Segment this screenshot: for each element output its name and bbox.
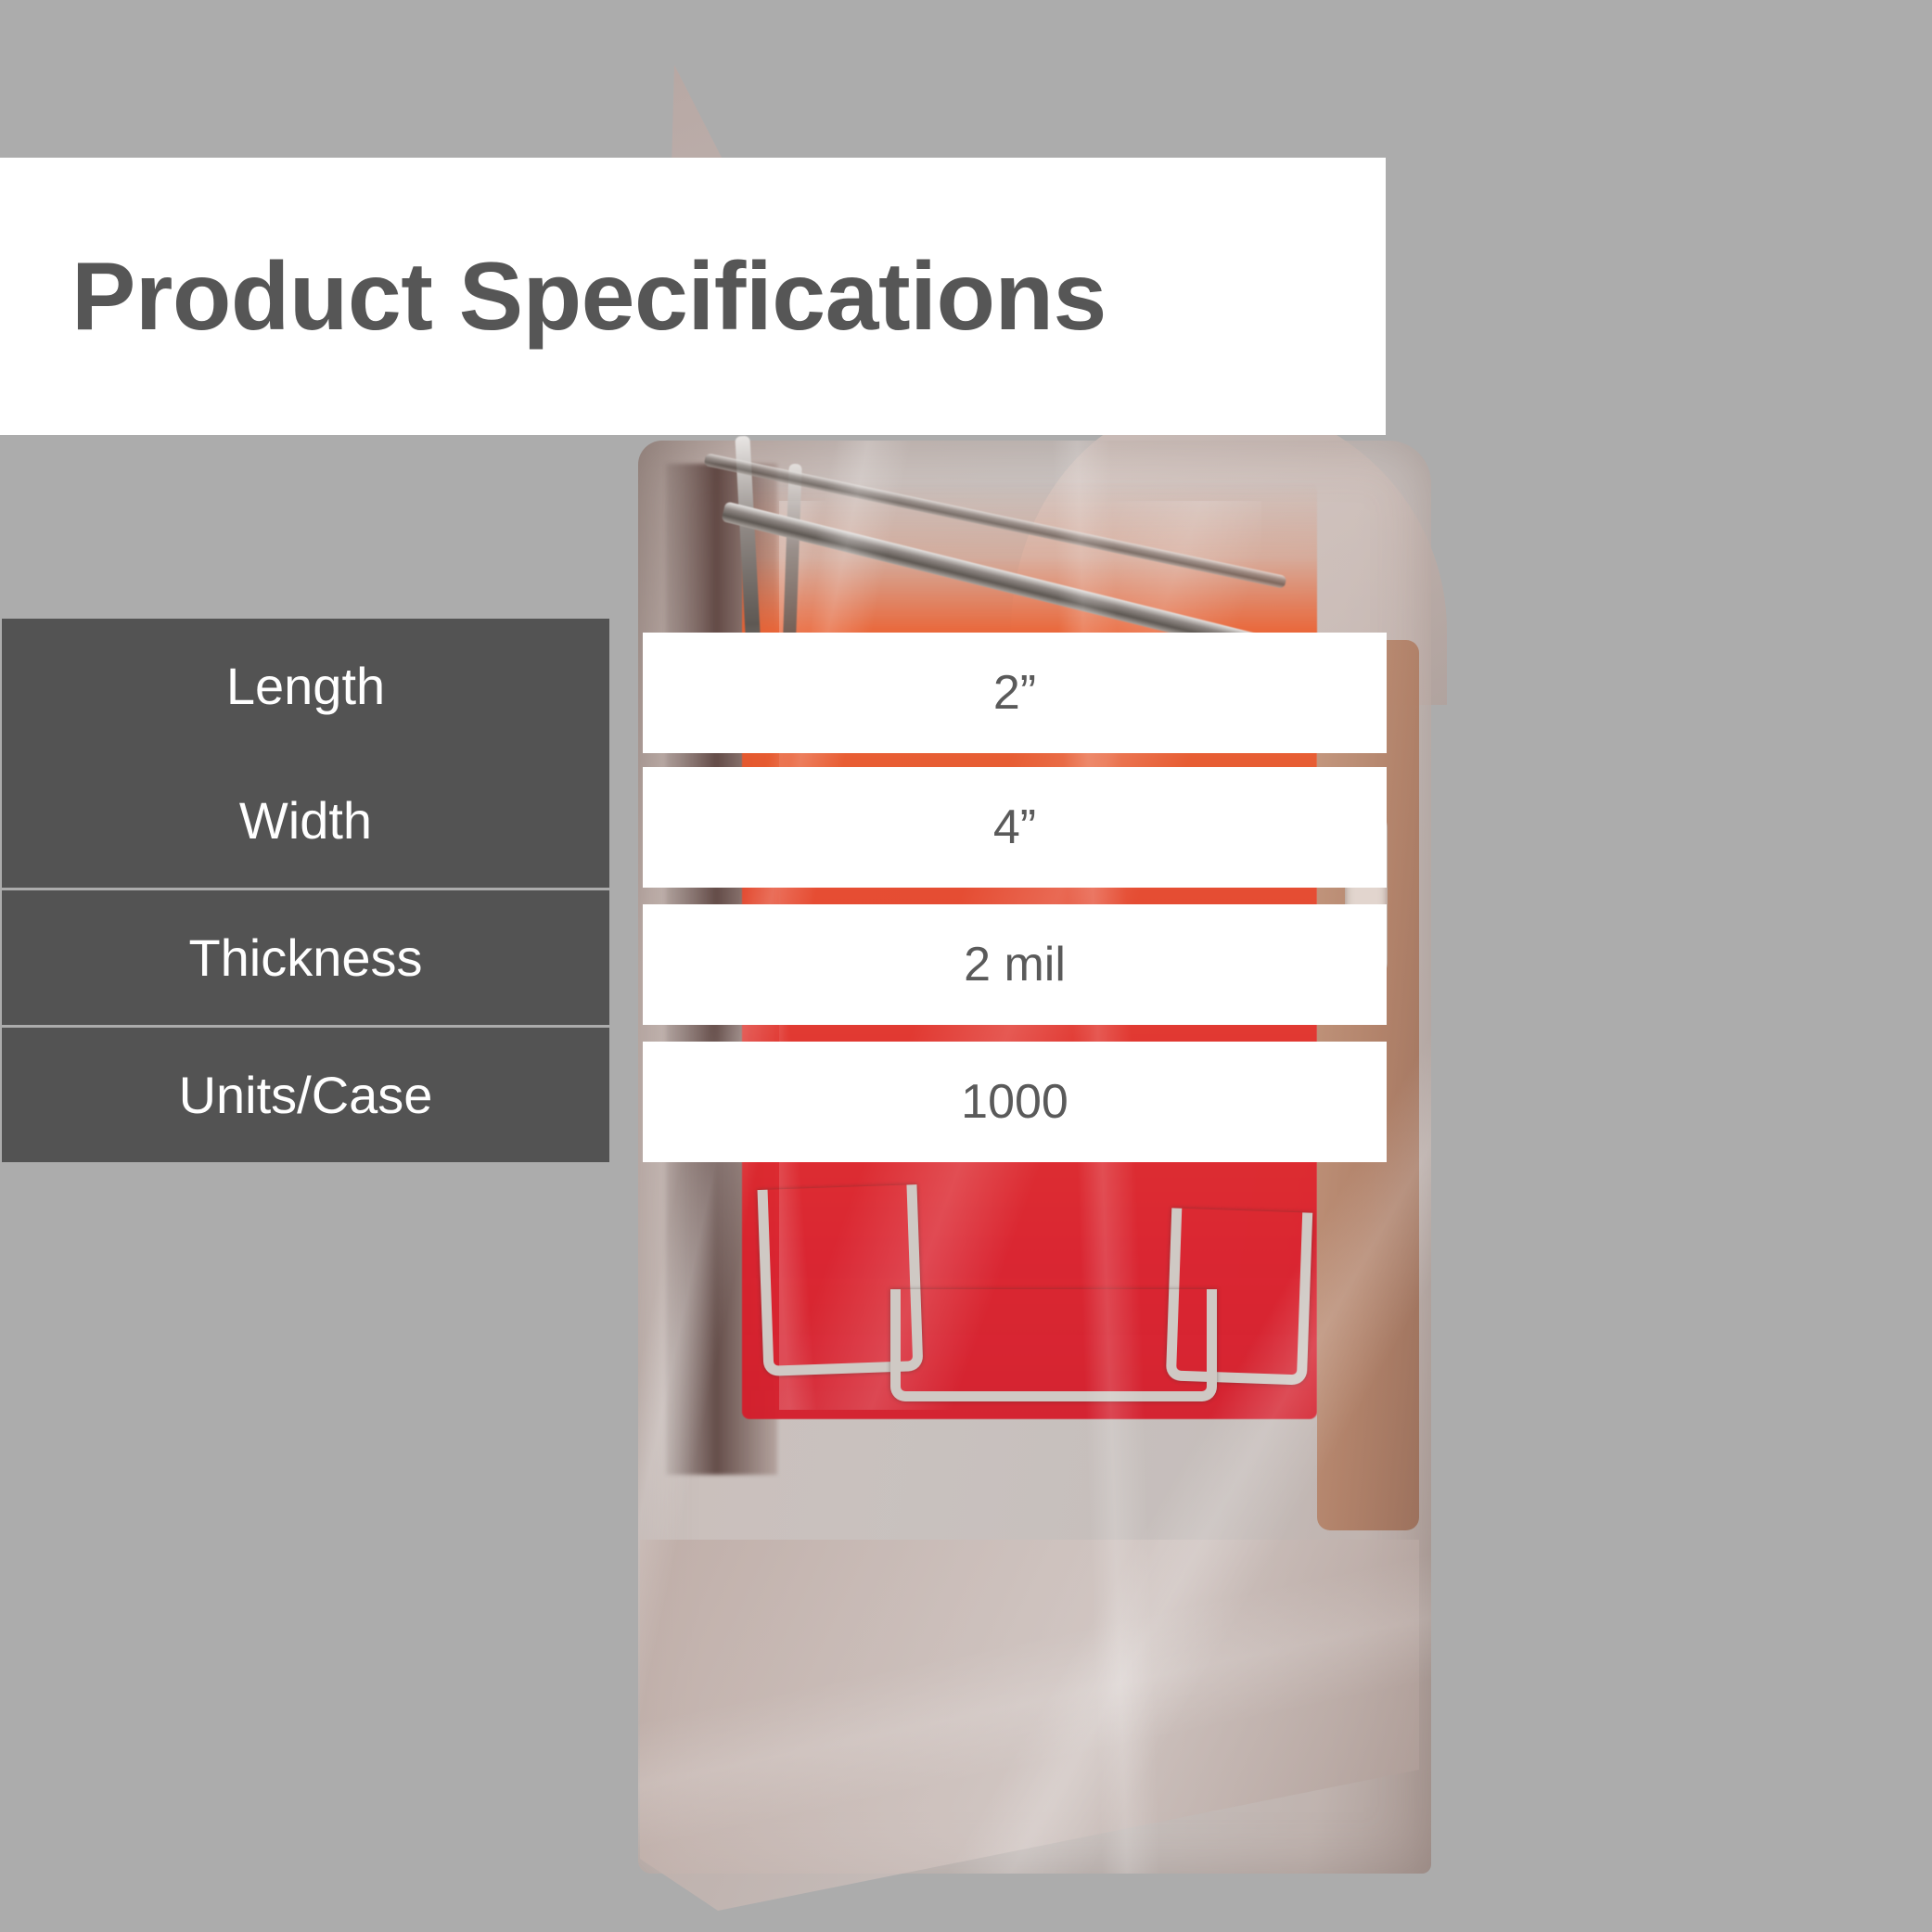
spec-value-text-length: 2” [993,669,1036,717]
spec-row-length: Length 2” [0,619,1387,753]
spec-table: Length 2” Width 4” Thickness 2 mil [0,0,1932,1932]
spec-value-cell-width: 4” [643,767,1387,888]
spec-row-units-per-case: Units/Case 1000 [0,1028,1387,1162]
spec-row-thickness: Thickness 2 mil [0,890,1387,1025]
spec-value-cell-thickness: 2 mil [643,904,1387,1025]
spec-label-text-width: Width [239,795,372,847]
spec-value-text-width: 4” [993,803,1036,851]
spec-label-cell-units-per-case: Units/Case [2,1028,609,1162]
spec-value-cell-length: 2” [643,633,1387,753]
spec-value-text-thickness: 2 mil [964,940,1066,989]
spec-value-cell-units-per-case: 1000 [643,1042,1387,1162]
spec-label-cell-width: Width [2,753,609,888]
spec-label-text-length: Length [226,660,385,712]
spec-label-cell-length: Length [2,619,609,753]
product-spec-card: Product Specifications Length 2” Width 4… [0,0,1932,1932]
spec-row-width: Width 4” [0,753,1387,888]
spec-label-text-units-per-case: Units/Case [179,1069,433,1121]
spec-label-text-thickness: Thickness [188,932,422,984]
spec-label-cell-thickness: Thickness [2,890,609,1025]
spec-value-text-units-per-case: 1000 [961,1078,1068,1126]
